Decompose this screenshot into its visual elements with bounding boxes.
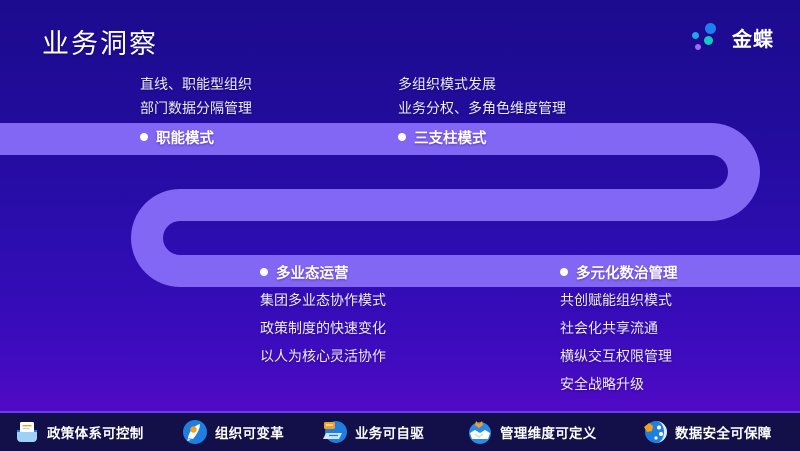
footer-item-label: 组织可变革 [215,422,284,442]
brand-name: 金蝶 [732,23,774,52]
bullet-dot-icon [260,268,268,276]
footer-item-policy[interactable]: 政策体系可控制 [0,419,168,445]
stage-block-2: 多组织模式发展 业务分权、多角色维度管理 三支柱模式 [398,72,566,149]
stage-note: 部门数据分隔管理 [140,96,252,120]
footer-item-label: 数据安全可保障 [675,422,772,442]
globe-puzzle-icon [642,419,668,445]
stage-label-text: 三支柱模式 [414,127,487,148]
footer-item-business[interactable]: 业务可自驱 [308,419,453,445]
footer-item-label: 业务可自驱 [355,422,424,442]
footer-item-label: 管理维度可定义 [500,422,597,442]
bullet-dot-icon [560,268,568,276]
stage-block-4: 多元化数治管理 共创赋能组织模式 社会化共享流通 横纵交互权限管理 安全战略升级 [560,259,678,397]
stage-note: 政策制度的快速变化 [260,315,386,341]
rocket-launch-icon [182,419,208,445]
stage-note: 社会化共享流通 [560,315,678,341]
stage-label-text: 多元化数治管理 [576,262,678,283]
stage-label-1[interactable]: 职能模式 [140,125,252,149]
footer-item-security[interactable]: 数据安全可保障 [628,419,800,445]
stage-note: 横纵交互权限管理 [560,343,678,369]
stage-note: 以人为核心灵活协作 [260,343,386,369]
stage-note: 多组织模式发展 [398,72,566,96]
bullet-dot-icon [140,133,148,141]
slide-canvas: 业务洞察 金蝶 直线、职能型组织 部门数据分隔管理 职能模式 多组织模式发展 业… [0,0,800,451]
footer-item-org[interactable]: 组织可变革 [168,419,308,445]
handshake-icon [467,419,493,445]
bullet-dot-icon [398,133,406,141]
stage-note: 直线、职能型组织 [140,72,252,96]
stage-block-1: 直线、职能型组织 部门数据分隔管理 职能模式 [140,72,252,149]
footer-item-label: 政策体系可控制 [47,422,144,442]
page-title: 业务洞察 [42,22,158,61]
stage-label-3[interactable]: 多业态运营 [260,259,386,285]
stage-note: 安全战略升级 [560,371,678,397]
timeline-ribbon-path [0,0,800,411]
footer-item-management[interactable]: 管理维度可定义 [453,419,628,445]
stage-label-4[interactable]: 多元化数治管理 [560,259,678,285]
footer-bar: 政策体系可控制 组织可变革 [0,411,800,451]
stage-label-text: 职能模式 [156,127,214,148]
stage-note: 共创赋能组织模式 [560,287,678,313]
stage-label-text: 多业态运营 [276,262,349,283]
brand-logo: 金蝶 [689,22,774,52]
document-folder-icon [14,419,40,445]
stage-label-2[interactable]: 三支柱模式 [398,125,566,149]
kingdee-dots-icon [689,22,723,52]
stage-note: 业务分权、多角色维度管理 [398,96,566,120]
stage-note: 集团多业态协作模式 [260,287,386,313]
monitor-gear-icon [322,419,348,445]
stage-block-3: 多业态运营 集团多业态协作模式 政策制度的快速变化 以人为核心灵活协作 [260,259,386,369]
